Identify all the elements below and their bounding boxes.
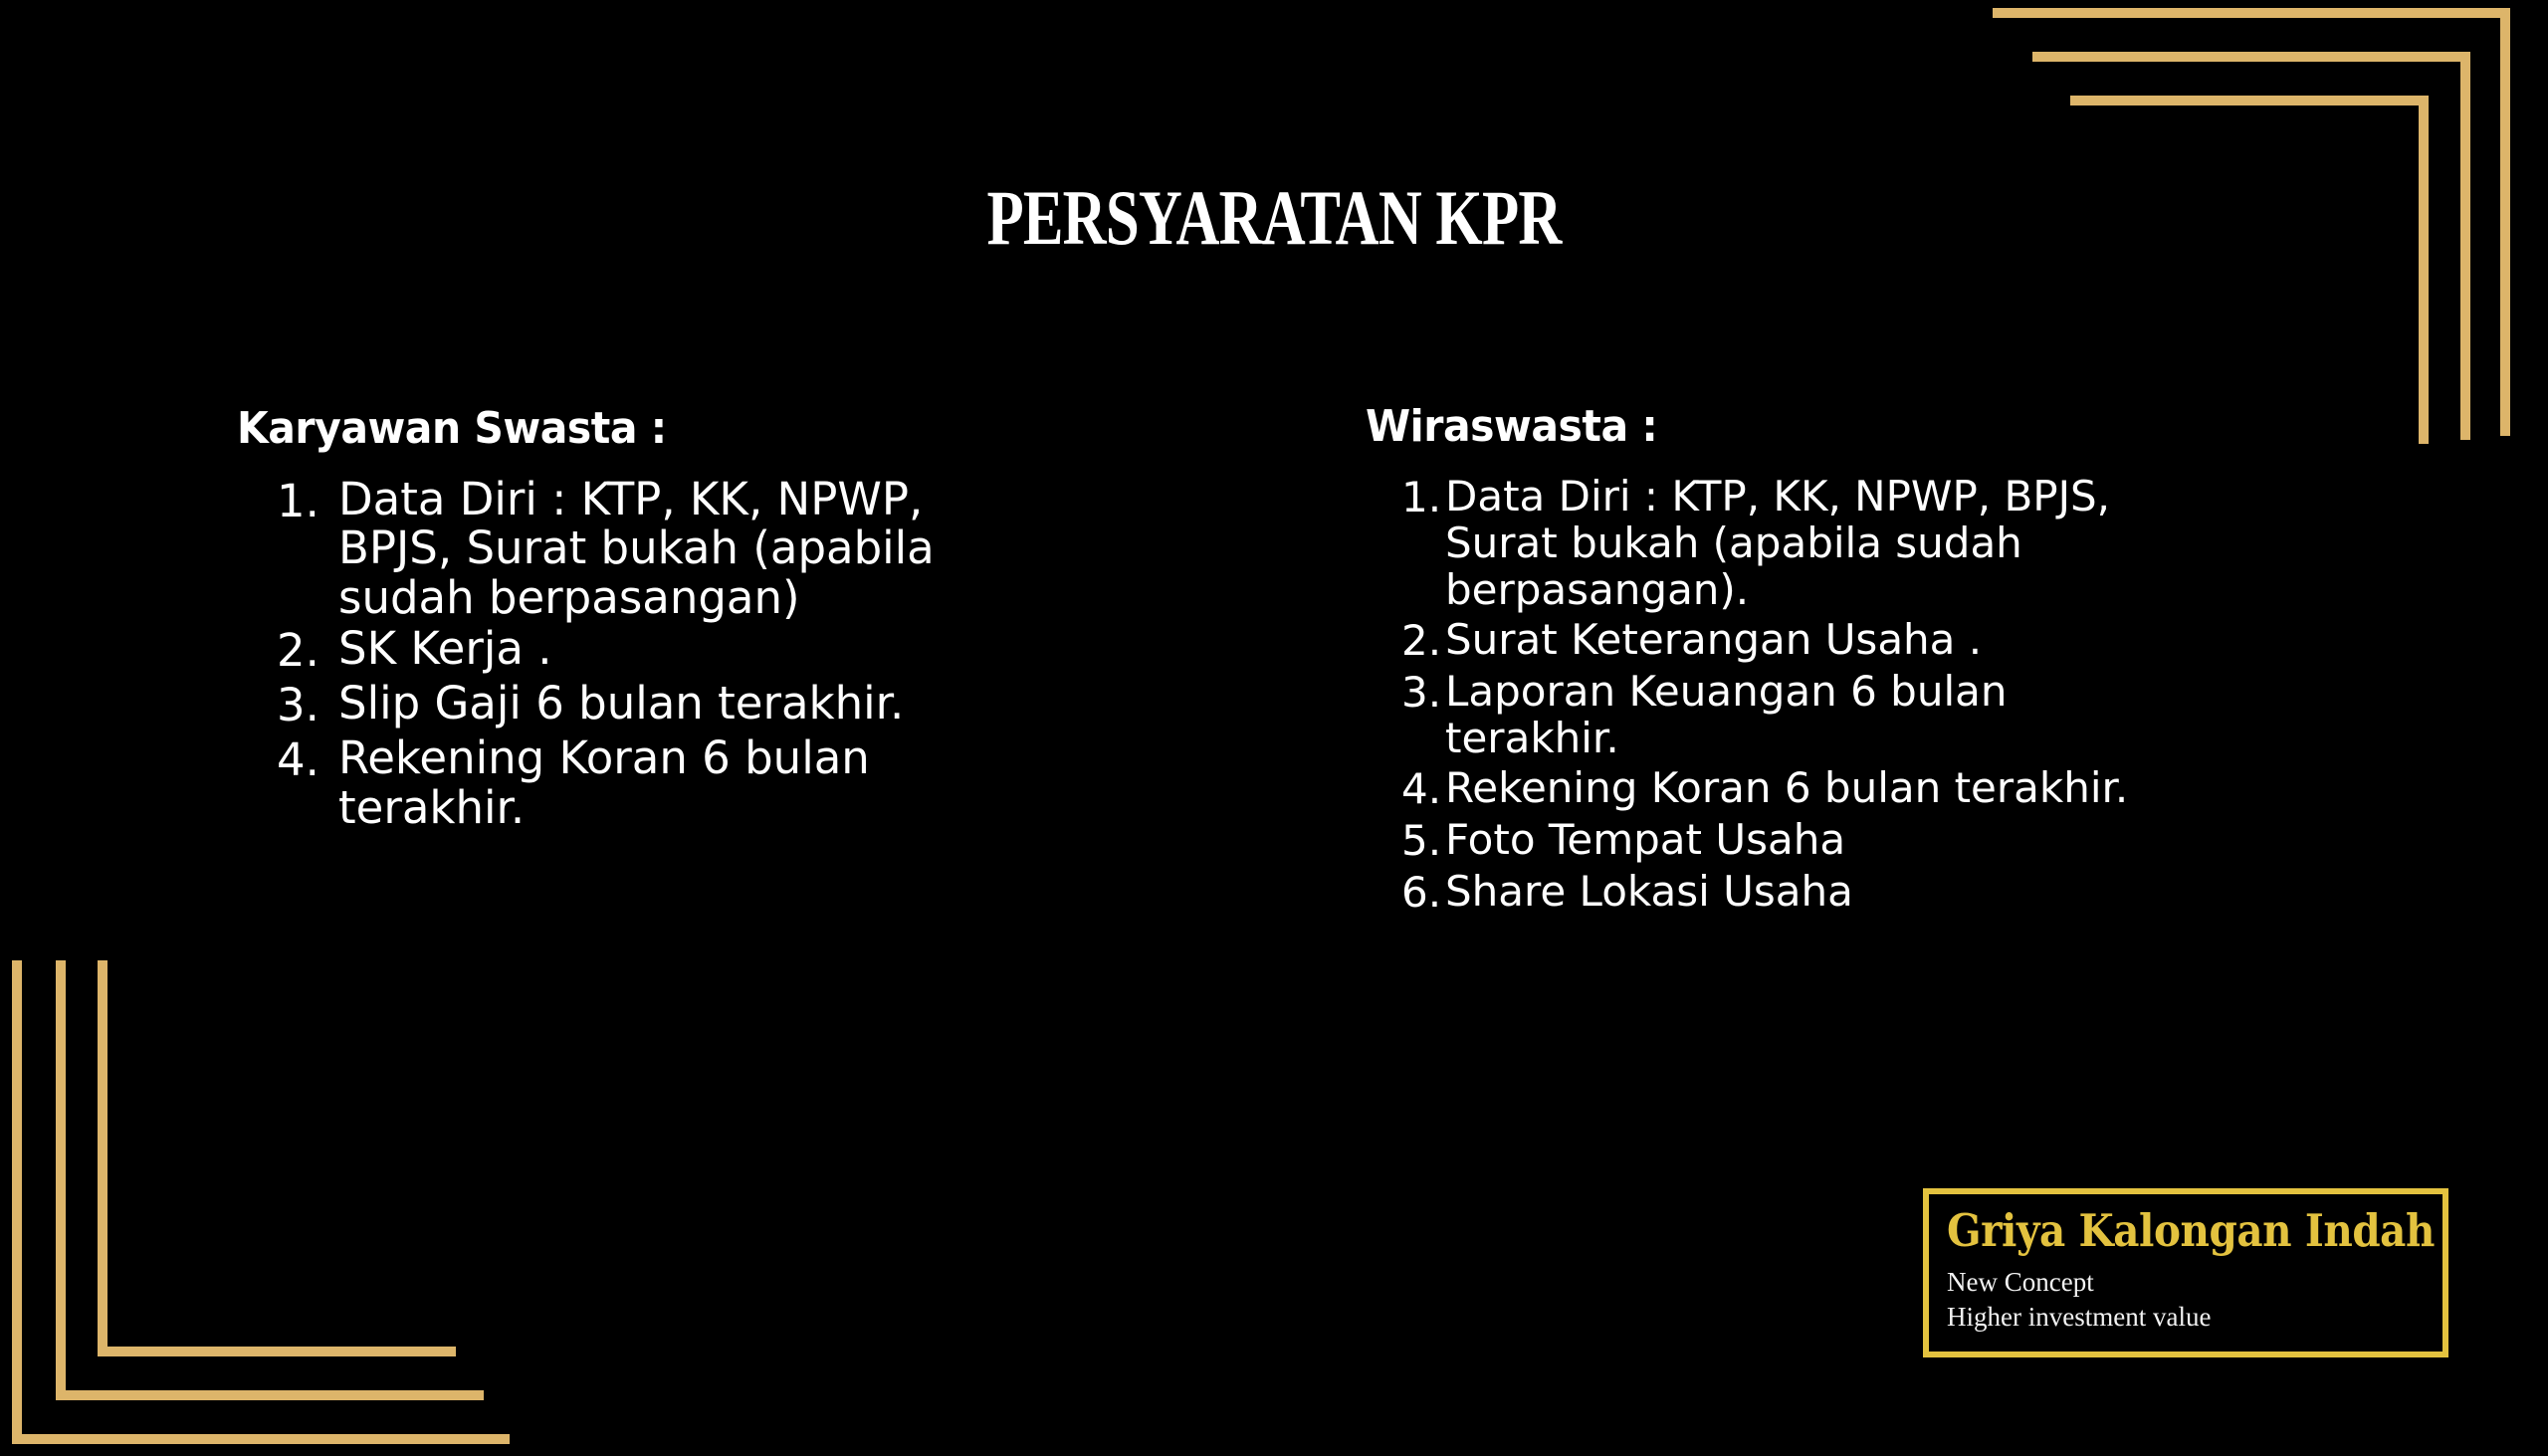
requirements-list-right: 1. Data Diri : KTP, KK, NPWP, BPJS, Sura… — [1366, 473, 2361, 917]
list-item-number: 2. — [1401, 616, 1445, 665]
column-heading-right: Wiraswasta : — [1366, 402, 2291, 453]
list-item-number: 1. — [1401, 473, 1445, 521]
column-heading-left: Karyawan Swasta : — [237, 404, 1126, 455]
list-item: 4. Rekening Koran 6 bulan terakhir. — [237, 733, 1192, 832]
brand-name: Griya Kalongan Indah — [1947, 1208, 2377, 1253]
list-item: 3. Slip Gaji 6 bulan terakhir. — [237, 679, 1192, 731]
list-item: 2. Surat Keterangan Usaha . — [1366, 616, 2361, 665]
list-item-text: Laporan Keuangan 6 bulan terakhir. — [1445, 668, 2142, 761]
list-item: 3. Laporan Keuangan 6 bulan terakhir. — [1366, 668, 2361, 761]
brand-tagline-2: Higher investment value — [1947, 1300, 2425, 1335]
list-item-text: Data Diri : KTP, KK, NPWP, BPJS, Surat b… — [338, 475, 975, 623]
corner-bracket-top-right-inner — [2070, 96, 2429, 444]
slide-canvas: PERSYARATAN KPR Karyawan Swasta : 1. Dat… — [0, 0, 2548, 1456]
list-item: 1. Data Diri : KTP, KK, NPWP, BPJS, Sura… — [237, 475, 1192, 623]
list-item-number: 4. — [277, 733, 338, 786]
corner-bracket-bottom-left-outer — [12, 960, 510, 1444]
list-item: 4. Rekening Koran 6 bulan terakhir. — [1366, 764, 2361, 813]
list-item: 6. Share Lokasi Usaha — [1366, 868, 2361, 917]
list-item-number: 3. — [1401, 668, 1445, 717]
list-item-text: Rekening Koran 6 bulan terakhir. — [1445, 764, 2142, 811]
list-item-text: Data Diri : KTP, KK, NPWP, BPJS, Surat b… — [1445, 473, 2142, 613]
list-item-text: Slip Gaji 6 bulan terakhir. — [338, 679, 975, 728]
brand-logo: Griya Kalongan Indah New Concept Higher … — [1923, 1188, 2448, 1357]
list-item-text: Rekening Koran 6 bulan terakhir. — [338, 733, 975, 832]
corner-bracket-bottom-left-middle — [56, 960, 484, 1400]
list-item-text: Surat Keterangan Usaha . — [1445, 616, 2142, 663]
list-item: 2. SK Kerja . — [237, 624, 1192, 677]
list-item: 1. Data Diri : KTP, KK, NPWP, BPJS, Sura… — [1366, 473, 2361, 613]
list-item-number: 4. — [1401, 764, 1445, 813]
list-item-text: SK Kerja . — [338, 624, 975, 674]
list-item-number: 6. — [1401, 868, 1445, 917]
list-item-number: 1. — [277, 475, 338, 527]
list-item-number: 3. — [277, 679, 338, 731]
corner-bracket-bottom-left-inner — [98, 960, 456, 1356]
column-karyawan-swasta: Karyawan Swasta : 1. Data Diri : KTP, KK… — [237, 404, 1192, 834]
page-title: PERSYARATAN KPR — [281, 179, 2268, 257]
list-item: 5. Foto Tempat Usaha — [1366, 816, 2361, 865]
brand-tagline-1: New Concept — [1947, 1265, 2425, 1300]
list-item-text: Share Lokasi Usaha — [1445, 868, 2142, 915]
list-item-text: Foto Tempat Usaha — [1445, 816, 2142, 863]
list-item-number: 5. — [1401, 816, 1445, 865]
requirements-list-left: 1. Data Diri : KTP, KK, NPWP, BPJS, Sura… — [237, 475, 1192, 833]
list-item-number: 2. — [277, 624, 338, 677]
column-wiraswasta: Wiraswasta : 1. Data Diri : KTP, KK, NPW… — [1366, 402, 2361, 920]
